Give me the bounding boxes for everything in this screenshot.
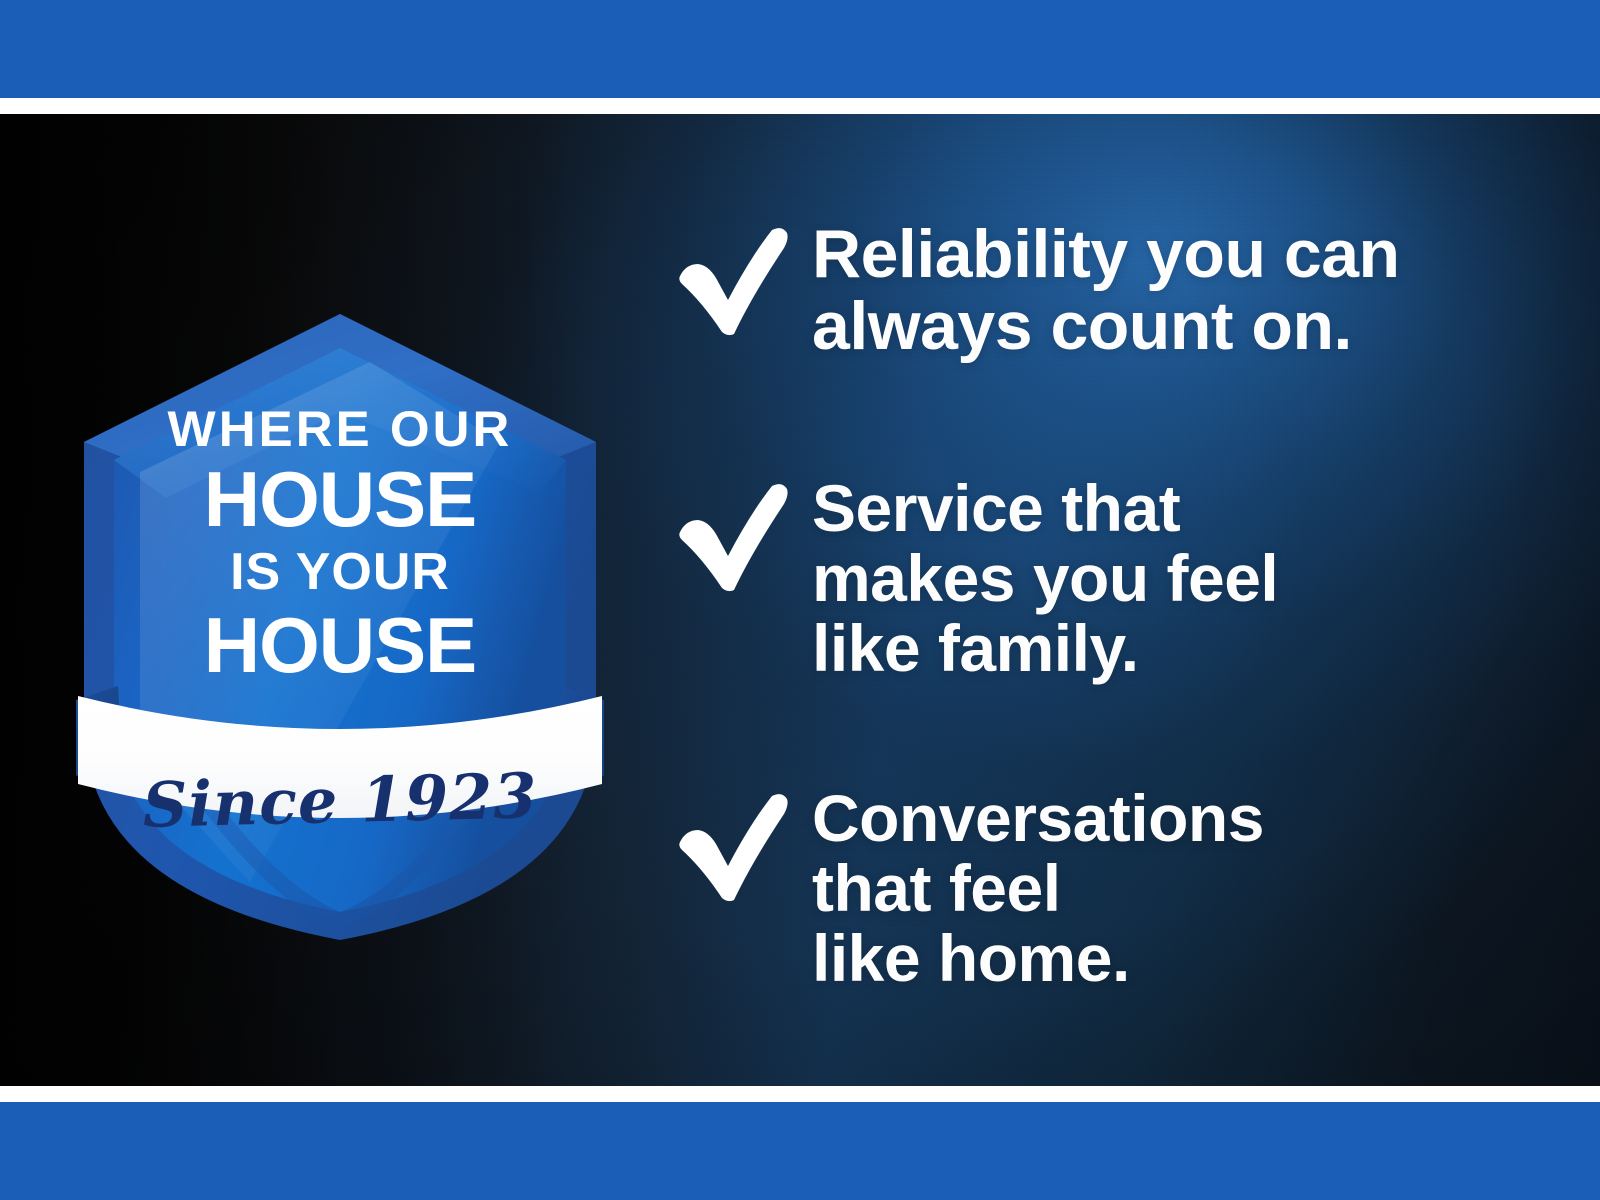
badge-since-text: Since 1923 bbox=[69, 757, 611, 843]
check-icon bbox=[672, 474, 812, 592]
check-icon bbox=[672, 784, 812, 902]
promo-graphic: WHERE OUR HOUSE IS YOUR HOUSE Since 1923… bbox=[0, 0, 1600, 1200]
top-brand-bar bbox=[0, 0, 1600, 98]
list-item-label: Reliability you can always count on. bbox=[812, 218, 1532, 362]
main-stage: WHERE OUR HOUSE IS YOUR HOUSE Since 1923… bbox=[0, 114, 1600, 1086]
check-icon bbox=[672, 218, 812, 336]
badge-line-2: HOUSE bbox=[70, 460, 610, 538]
bottom-brand-bar bbox=[0, 1102, 1600, 1200]
list-item: Reliability you can always count on. bbox=[672, 218, 1532, 362]
badge-line-3: IS YOUR bbox=[70, 546, 610, 598]
bottom-white-divider bbox=[0, 1086, 1600, 1102]
list-item: Conversations that feel like home. bbox=[672, 784, 1532, 994]
shield-badge: WHERE OUR HOUSE IS YOUR HOUSE Since 1923 bbox=[70, 292, 610, 942]
list-item-label: Conversations that feel like home. bbox=[812, 784, 1532, 994]
list-item-label: Service that makes you feel like family. bbox=[812, 474, 1532, 684]
list-item: Service that makes you feel like family. bbox=[672, 474, 1532, 684]
top-white-divider bbox=[0, 98, 1600, 114]
badge-line-1: WHERE OUR bbox=[65, 404, 616, 454]
badge-line-4: HOUSE bbox=[70, 606, 610, 684]
